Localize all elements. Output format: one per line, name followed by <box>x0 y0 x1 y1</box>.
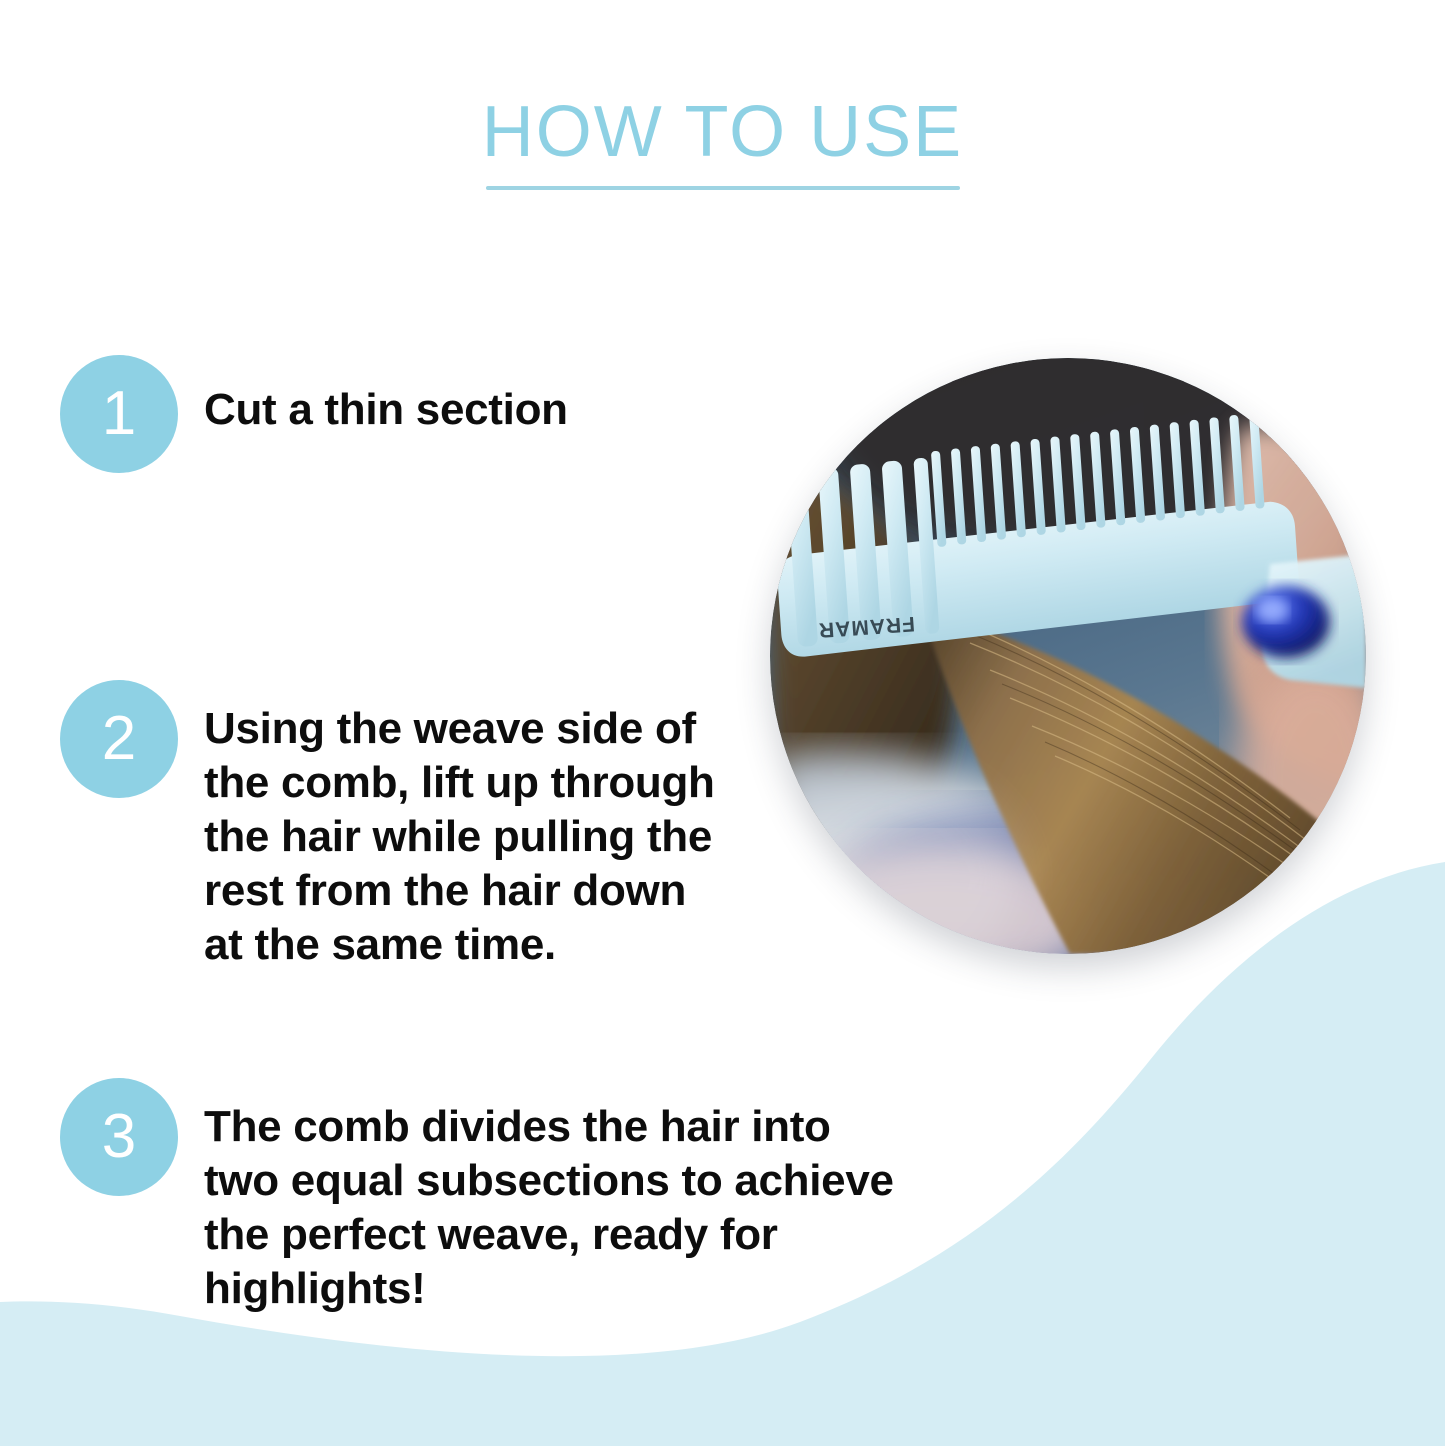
step-text-3: The comb divides the hair into two equal… <box>204 1078 894 1316</box>
step-number-badge-2: 2 <box>60 680 178 798</box>
step-number-badge-3: 3 <box>60 1078 178 1196</box>
how-to-use-page: HOW TO USE <box>0 0 1445 1446</box>
step-number-badge-1: 1 <box>60 355 178 473</box>
steps-list: 1 Cut a thin section 2 Using the weave s… <box>0 0 1445 1446</box>
step-text-2: Using the weave side of the comb, lift u… <box>204 680 724 972</box>
step-item-3: 3 The comb divides the hair into two equ… <box>60 1078 894 1316</box>
step-text-1: Cut a thin section <box>204 355 568 437</box>
step-item-2: 2 Using the weave side of the comb, lift… <box>60 680 724 972</box>
step-item-1: 1 Cut a thin section <box>60 355 568 473</box>
